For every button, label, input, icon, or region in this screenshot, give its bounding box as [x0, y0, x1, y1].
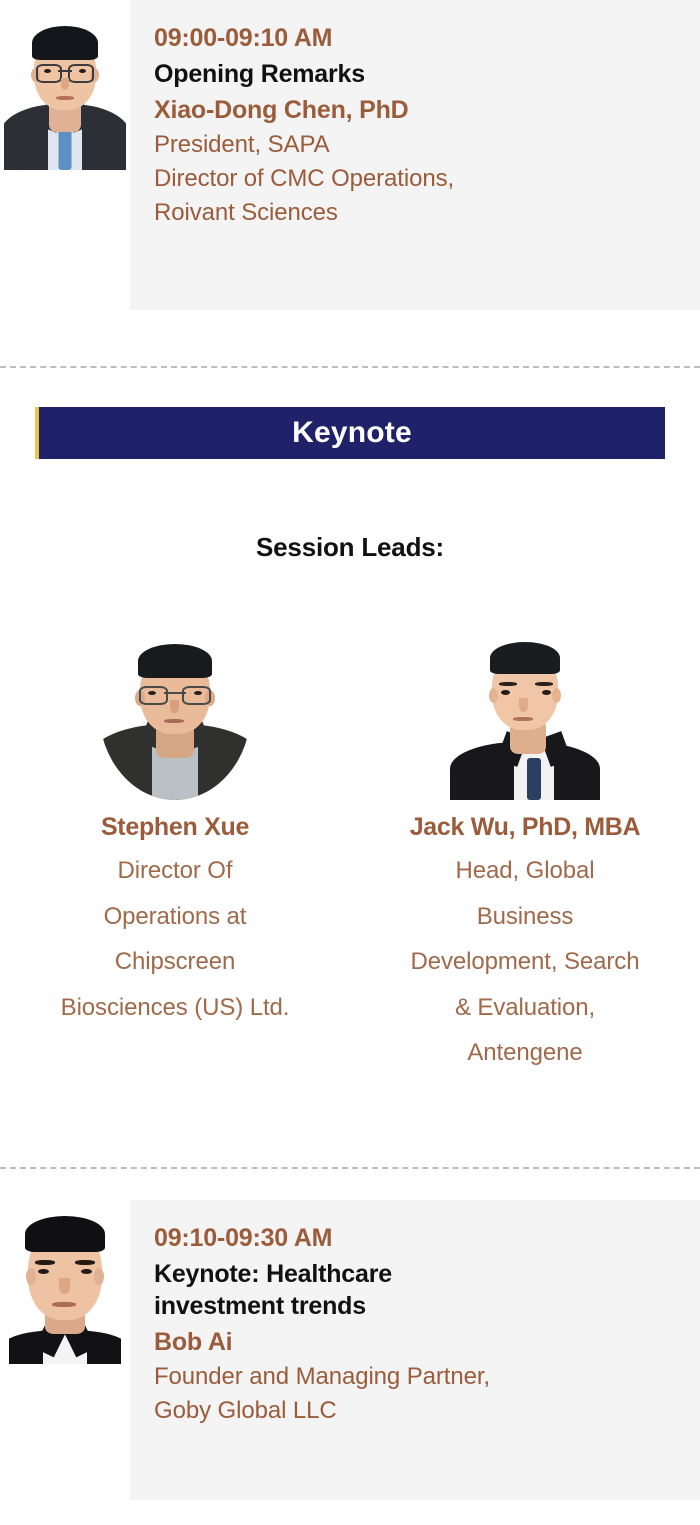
lead-name: Jack Wu, PhD, MBA	[410, 812, 641, 842]
divider-top	[0, 366, 700, 368]
lead-role-line: Biosciences (US) Ltd.	[5, 985, 345, 1031]
session-affiliation-line: President, SAPA	[154, 128, 680, 162]
lead-role-line: & Evaluation,	[355, 985, 695, 1031]
speaker-photo-bob-ai	[9, 1206, 121, 1364]
session-card: 09:00-09:10 AM Opening Remarks Xiao-Dong…	[130, 0, 700, 310]
keynote-banner: Keynote	[35, 407, 665, 459]
lead-photo-jack-wu	[449, 620, 601, 800]
avatar-wrap	[0, 1200, 130, 1364]
session-affiliation-line: Roivant Sciences	[154, 196, 680, 230]
lead-role-line: Director Of	[5, 848, 345, 894]
session-speaker: Bob Ai	[154, 1326, 680, 1358]
session-lead-card: Jack Wu, PhD, MBA Head, Global Business …	[350, 620, 700, 1076]
lead-role-line: Operations at	[5, 894, 345, 940]
lead-role-line: Business	[355, 894, 695, 940]
session-title: Opening Remarks	[154, 58, 680, 90]
lead-role-line: Development, Search	[355, 939, 695, 985]
session-time: 09:00-09:10 AM	[154, 22, 680, 54]
session-lead-card: Stephen Xue Director Of Operations at Ch…	[0, 620, 350, 1030]
session-leads-grid: Stephen Xue Director Of Operations at Ch…	[0, 620, 700, 1076]
lead-role-line: Chipscreen	[5, 939, 345, 985]
divider-bottom	[0, 1167, 700, 1169]
session-affiliation-line: Goby Global LLC	[154, 1394, 680, 1428]
session-row-opening-remarks: 09:00-09:10 AM Opening Remarks Xiao-Dong…	[0, 0, 700, 340]
session-title-line: Keynote: Healthcare	[154, 1258, 680, 1290]
keynote-banner-label: Keynote	[292, 416, 412, 450]
session-affiliation-line: Director of CMC Operations,	[154, 162, 680, 196]
session-card: 09:10-09:30 AM Keynote: Healthcare inves…	[130, 1200, 700, 1500]
session-row-keynote-healthcare: 09:10-09:30 AM Keynote: Healthcare inves…	[0, 1200, 700, 1525]
session-affiliation-line: Founder and Managing Partner,	[154, 1360, 680, 1394]
session-title-line: investment trends	[154, 1290, 680, 1322]
speaker-photo-xiao-dong-chen	[4, 6, 126, 170]
lead-photo-stephen-xue	[99, 620, 251, 800]
session-time: 09:10-09:30 AM	[154, 1222, 680, 1254]
lead-name: Stephen Xue	[101, 812, 249, 842]
avatar-wrap	[0, 0, 130, 170]
session-speaker: Xiao-Dong Chen, PhD	[154, 94, 680, 126]
session-leads-heading: Session Leads:	[0, 532, 700, 563]
lead-role-line: Antengene	[355, 1030, 695, 1076]
lead-role-line: Head, Global	[355, 848, 695, 894]
